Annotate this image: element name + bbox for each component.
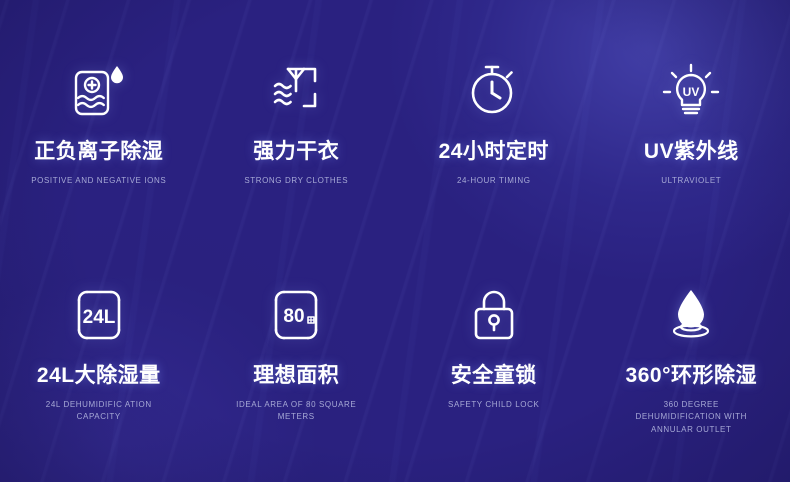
feature-item-ideal-area: 80 理想面积 IDEAL AREA OF 80 SQUARE METERS <box>198 246 396 482</box>
area-80-square-meters-icon: 80 <box>265 284 327 346</box>
feature-title: 24小时定时 <box>439 140 549 163</box>
stopwatch-timer-icon <box>465 60 523 122</box>
feature-title: 理想面积 <box>253 364 339 387</box>
feature-subtitle: STRONG DRY CLOTHES <box>244 175 348 187</box>
feature-title: 强力干衣 <box>253 140 339 163</box>
feature-item-child-lock: 安全童锁 SAFETY CHILD LOCK <box>395 246 593 482</box>
ion-dehumidify-icon <box>68 60 130 122</box>
feature-subtitle: 24-HOUR TIMING <box>457 175 531 187</box>
feature-title: 24L大除湿量 <box>37 364 161 387</box>
feature-item-capacity-24l: 24L 24L大除湿量 24L DEHUMIDIFIC ATION CAPACI… <box>0 246 198 482</box>
feature-subtitle: 24L DEHUMIDIFIC ATION CAPACITY <box>29 399 169 424</box>
feature-subtitle: 360 DEGREE DEHUMIDIFICATION WITH ANNULAR… <box>621 399 761 436</box>
feature-subtitle: SAFETY CHILD LOCK <box>448 399 539 411</box>
capacity-24l-icon: 24L <box>68 284 130 346</box>
svg-text:24L: 24L <box>82 307 115 328</box>
feature-subtitle: ULTRAVIOLET <box>661 175 721 187</box>
feature-item-24-hour-timing: 24小时定时 24-HOUR TIMING <box>395 0 593 246</box>
water-drop-360-icon <box>662 284 720 346</box>
feature-item-360-dehumidification: 360°环形除湿 360 DEGREE DEHUMIDIFICATION WIT… <box>593 246 790 482</box>
strong-dry-clothes-icon <box>267 60 325 122</box>
feature-title: 正负离子除湿 <box>34 140 163 163</box>
feature-item-strong-dry-clothes: 强力干衣 STRONG DRY CLOTHES <box>198 0 396 246</box>
feature-title: 安全童锁 <box>451 364 537 387</box>
uv-lamp-icon: UV <box>662 60 720 122</box>
feature-item-ultraviolet: UV UV紫外线 ULTRAVIOLET <box>593 0 790 246</box>
svg-text:80: 80 <box>284 306 305 327</box>
feature-banner: 正负离子除湿 POSITIVE AND NEGATIVE IONS 强力干衣 S… <box>0 0 790 482</box>
feature-title: UV紫外线 <box>644 140 739 163</box>
feature-subtitle: IDEAL AREA OF 80 SQUARE METERS <box>226 399 366 424</box>
feature-item-ion-dehumidify: 正负离子除湿 POSITIVE AND NEGATIVE IONS <box>0 0 198 246</box>
child-lock-icon <box>467 284 521 346</box>
feature-grid: 正负离子除湿 POSITIVE AND NEGATIVE IONS 强力干衣 S… <box>0 0 790 482</box>
feature-title: 360°环形除湿 <box>626 364 757 387</box>
svg-text:UV: UV <box>683 85 700 99</box>
feature-subtitle: POSITIVE AND NEGATIVE IONS <box>31 175 166 187</box>
